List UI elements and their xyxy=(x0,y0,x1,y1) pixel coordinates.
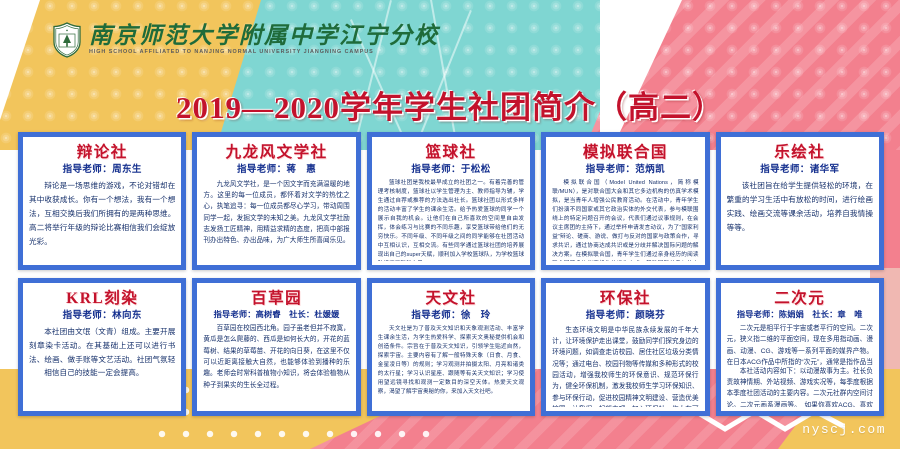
club-title: 模拟联合国 xyxy=(552,143,698,162)
club-description: 天文社是为了普及天文知识和天象观测活动、丰富学生课余生活，为学生热爱科学、探索天… xyxy=(378,325,524,407)
club-title: 天文社 xyxy=(378,289,524,308)
club-description-2: 相信自己的技能一定会提高。 xyxy=(29,366,175,407)
club-title: 环保社 xyxy=(552,289,698,308)
club-card-inner: 模拟联合国指导老师：范炳凯模拟联合国（Model United Nations，… xyxy=(546,137,704,265)
club-teacher: 指导老师：林向东 xyxy=(29,310,175,322)
club-card-inner: 百草园指导老师：高树睿 社长：杜媛媛百草园在校园西北角。园子虽老但并不寂寞，黄瓜… xyxy=(197,283,355,411)
poster-canvas: 南京师范大学附属中学江宁分校 HIGH SCHOOL AFFILIATED TO… xyxy=(0,0,900,449)
club-title: 二次元 xyxy=(727,289,873,308)
club-teacher: 指导老师：高树睿 社长：杜媛媛 xyxy=(203,310,349,321)
club-card[interactable]: 九龙风文学社指导老师：蒋 惠九龙风文学社，是一个因文字而充满温暖的地方。这里的每… xyxy=(192,132,360,270)
club-description: 该社团旨在给学生提供轻松的环境，在繁重的学习生活中有放松的时间，进行绘画实践、绘… xyxy=(727,179,873,261)
club-description: 百草园在校园西北角。园子虽老但并不寂寞，黄瓜是怎么爬藤的、西瓜是如何长大的，开花… xyxy=(203,323,349,407)
club-title: 篮球社 xyxy=(378,143,524,162)
club-card[interactable]: 辩论社指导老师：周东生辩论是一场思维的游戏，不论对错却在其中收获成长。你有一个想… xyxy=(18,132,186,270)
club-card[interactable]: 环保社指导老师：颜晓芬生态环境文明是中华民族永续发展的千年大计，让环境保护走出课… xyxy=(541,278,709,416)
club-card[interactable]: 乐绘社指导老师：诸华军该社团旨在给学生提供轻松的环境，在繁重的学习生活中有放松的… xyxy=(716,132,884,270)
club-card-inner: 辩论社指导老师：周东生辩论是一场思维的游戏，不论对错却在其中收获成长。你有一个想… xyxy=(23,137,181,265)
page-title: 2019—2020学年学生社团简介（高二） xyxy=(0,82,900,127)
club-card-inner: 二次元指导老师：陈娟娟 社长：章 唯二次元是相平行于宇宙或者平行的空间。二次元，… xyxy=(721,283,879,411)
club-description: 九龙风文学社，是一个因文字而充满温暖的地方。这里的每一位成员，都怀着对文学的热忱… xyxy=(203,179,349,261)
club-teacher: 指导老师：徐 玲 xyxy=(378,310,524,322)
club-card[interactable]: 二次元指导老师：陈娟娟 社长：章 唯二次元是相平行于宇宙或者平行的空间。二次元，… xyxy=(716,278,884,416)
club-teacher: 指导老师：范炳凯 xyxy=(552,164,698,176)
club-description: 辩论是一场思维的游戏，不论对错却在其中收获成长。你有一个想法，我有一个想法，互相… xyxy=(29,179,175,261)
club-description: 二次元是相平行于宇宙或者平行的空间。二次元，狭义指二维的平面空间，现在多用指动画… xyxy=(727,323,873,364)
club-card-inner: 环保社指导老师：颜晓芬生态环境文明是中华民族永续发展的千年大计，让环境保护走出课… xyxy=(546,283,704,411)
club-teacher: 指导老师：诸华军 xyxy=(727,164,873,176)
school-shield-icon xyxy=(52,22,82,58)
club-title: KRL刻染 xyxy=(29,289,175,308)
club-card[interactable]: 模拟联合国指导老师：范炳凯模拟联合国（Model United Nations，… xyxy=(541,132,709,270)
club-title: 乐绘社 xyxy=(727,143,873,162)
club-card[interactable]: 篮球社指导老师：于松松篮球社团是我校最早成立的社团之一。有着完善的管理考核制度，… xyxy=(367,132,535,270)
club-teacher: 指导老师：周东生 xyxy=(29,164,175,176)
club-teacher: 指导老师：陈娟娟 社长：章 唯 xyxy=(727,310,873,321)
club-card-inner: 九龙风文学社指导老师：蒋 惠九龙风文学社，是一个因文字而充满温暖的地方。这里的每… xyxy=(197,137,355,265)
school-name-cn: 南京师范大学附属中学江宁分校 xyxy=(89,24,439,47)
school-logo: 南京师范大学附属中学江宁分校 HIGH SCHOOL AFFILIATED TO… xyxy=(52,22,439,58)
club-card[interactable]: 天文社指导老师：徐 玲天文社是为了普及天文知识和天象观测活动、丰富学生课余生活，… xyxy=(367,278,535,416)
club-card-grid: 辩论社指导老师：周东生辩论是一场思维的游戏，不论对错却在其中收获成长。你有一个想… xyxy=(18,132,884,416)
club-teacher: 指导老师：于松松 xyxy=(378,164,524,176)
school-name-en: HIGH SCHOOL AFFILIATED TO NANJING NORMAL… xyxy=(89,50,439,55)
club-teacher: 指导老师：蒋 惠 xyxy=(203,164,349,176)
club-card-inner: 乐绘社指导老师：诸华军该社团旨在给学生提供轻松的环境，在繁重的学习生活中有放松的… xyxy=(721,137,879,265)
club-description: 生态环境文明是中华民族永续发展的千年大计，让环境保护走出课堂，鼓励同学们探究身边… xyxy=(552,325,698,407)
school-name-block: 南京师范大学附属中学江宁分校 HIGH SCHOOL AFFILIATED TO… xyxy=(89,24,439,55)
club-description: 篮球社团是我校最早成立的社团之一。有着完善的管理考核制度，篮球社以学生管理为主、… xyxy=(378,179,524,261)
club-card-inner: 天文社指导老师：徐 玲天文社是为了普及天文知识和天象观测活动、丰富学生课余生活，… xyxy=(372,283,530,411)
club-card-inner: KRL刻染指导老师：林向东本社团由文氓（文青）组成。主要开展刻章染卡活动。在其基… xyxy=(23,283,181,411)
club-description: 模拟联合国（Model United Nations，简称模联/MUN），是对联… xyxy=(552,179,698,261)
club-description-2: 本社活动内容如下：以动漫故事为主。社长负责故神情期、外站视频、游戏实况等，每季度… xyxy=(727,366,873,407)
club-card[interactable]: KRL刻染指导老师：林向东本社团由文氓（文青）组成。主要开展刻章染卡活动。在其基… xyxy=(18,278,186,416)
club-teacher: 指导老师：颜晓芬 xyxy=(552,310,698,322)
club-card[interactable]: 百草园指导老师：高树睿 社长：杜媛媛百草园在校园西北角。园子虽老但并不寂寞，黄瓜… xyxy=(192,278,360,416)
club-description: 本社团由文氓（文青）组成。主要开展刻章染卡活动。在其基础上还可以进行书法、绘画、… xyxy=(29,325,175,366)
watermark: nyscj.com xyxy=(802,422,886,437)
club-title: 九龙风文学社 xyxy=(203,143,349,162)
club-title: 辩论社 xyxy=(29,143,175,162)
club-card-inner: 篮球社指导老师：于松松篮球社团是我校最早成立的社团之一。有着完善的管理考核制度，… xyxy=(372,137,530,265)
poster-header: 南京师范大学附属中学江宁分校 HIGH SCHOOL AFFILIATED TO… xyxy=(0,0,900,80)
club-title: 百草园 xyxy=(203,289,349,308)
